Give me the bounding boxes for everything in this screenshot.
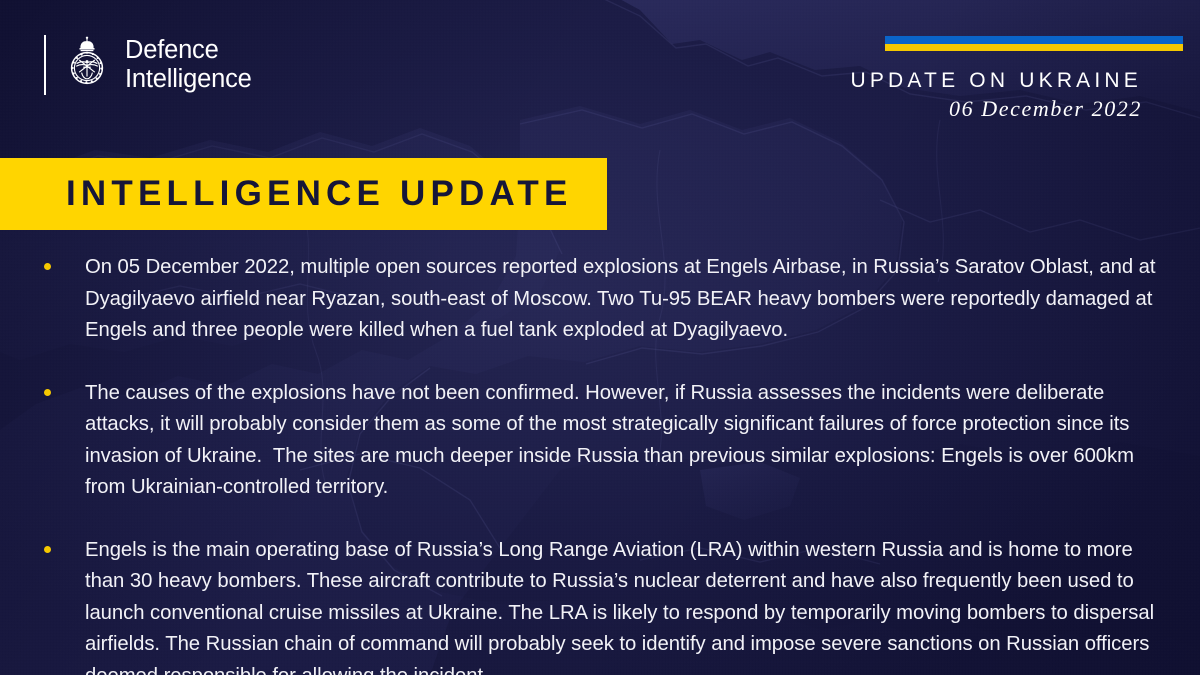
wordmark-line-defence: Defence bbox=[125, 36, 252, 65]
bullet-list: On 05 December 2022, multiple open sourc… bbox=[44, 252, 1162, 675]
header-text-block: UPDATE ON UKRAINE 06 December 2022 bbox=[850, 68, 1142, 123]
flag-yellow-stripe bbox=[885, 44, 1183, 52]
intelligence-update-banner: INTELLIGENCE UPDATE bbox=[0, 158, 607, 230]
bullet-dot-icon bbox=[44, 389, 51, 396]
wordmark-line-intelligence: Intelligence bbox=[125, 65, 252, 94]
list-item: Engels is the main operating base of Rus… bbox=[44, 535, 1162, 675]
bullet-dot-icon bbox=[44, 263, 51, 270]
update-on-ukraine-label: UPDATE ON UKRAINE bbox=[850, 68, 1142, 94]
update-date: 06 December 2022 bbox=[850, 95, 1142, 123]
mod-crest-icon bbox=[62, 35, 112, 95]
bullet-text: Engels is the main operating base of Rus… bbox=[85, 535, 1162, 675]
bullet-text: The causes of the explosions have not be… bbox=[85, 378, 1162, 504]
banner-title: INTELLIGENCE UPDATE bbox=[0, 174, 573, 214]
list-item: On 05 December 2022, multiple open sourc… bbox=[44, 252, 1162, 347]
defence-intelligence-logo: Defence Intelligence bbox=[44, 34, 252, 96]
intelligence-update-poster: Defence Intelligence UPDATE ON UKRAINE 0… bbox=[0, 0, 1200, 675]
flag-blue-stripe bbox=[885, 36, 1183, 44]
logo-wordmark: Defence Intelligence bbox=[125, 36, 252, 94]
list-item: The causes of the explosions have not be… bbox=[44, 378, 1162, 504]
bullet-text: On 05 December 2022, multiple open sourc… bbox=[85, 252, 1162, 347]
bullet-dot-icon bbox=[44, 546, 51, 553]
logo-divider-rule bbox=[44, 35, 46, 95]
ukraine-flag-bar bbox=[885, 36, 1183, 51]
